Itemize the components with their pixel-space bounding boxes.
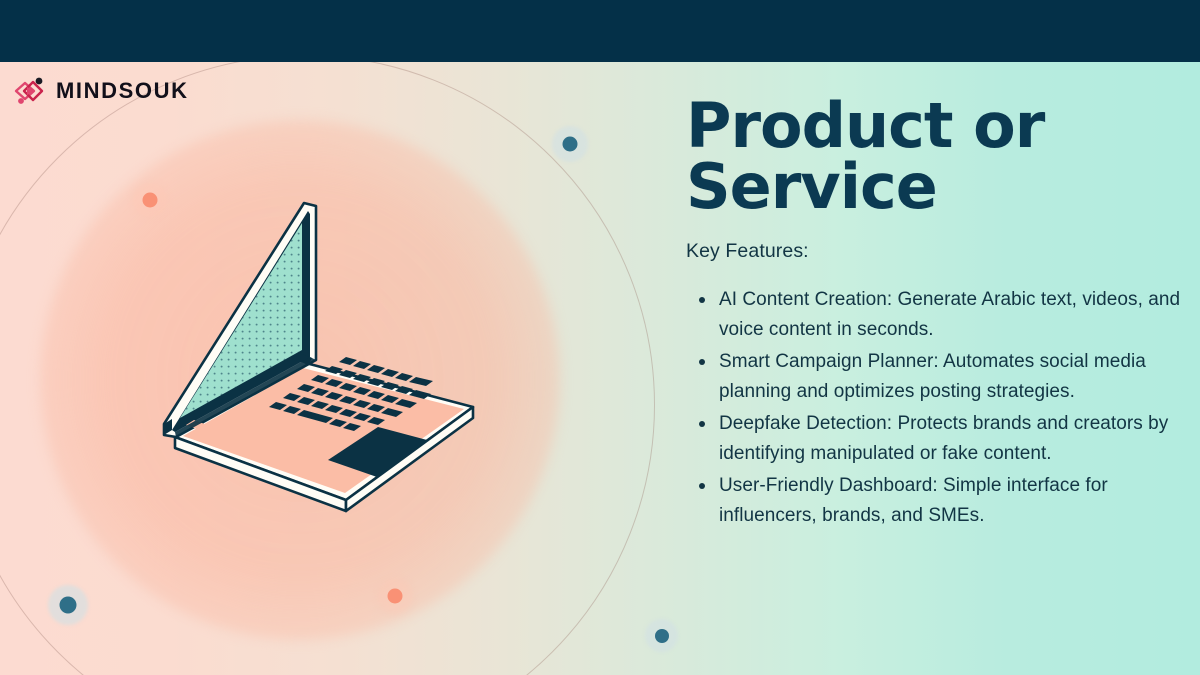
dot-halo — [552, 126, 588, 162]
key-features-list: AI Content Creation: Generate Arabic tex… — [686, 285, 1182, 531]
mindsouk-diamond-arrow-icon — [12, 76, 46, 106]
brand-name: MINDSOUK — [56, 78, 189, 104]
dot-orange-bottom-center — [377, 578, 413, 614]
dot-halo — [48, 585, 88, 625]
dot-teal-bottom-left — [48, 585, 88, 625]
isometric-laptop-illustration — [150, 190, 490, 520]
dot-core — [388, 589, 403, 604]
presentation-slide: MINDSOUK Product or Service Key Features… — [0, 0, 1200, 675]
dot-core — [655, 629, 669, 643]
list-item: User-Friendly Dashboard: Simple interfac… — [686, 471, 1182, 531]
dot-halo — [645, 619, 678, 652]
dot-core — [60, 597, 77, 614]
dot-teal-top-right — [552, 126, 588, 162]
subtitle-key-features: Key Features: — [686, 240, 1182, 263]
list-item: Deepfake Detection: Protects brands and … — [686, 409, 1182, 469]
dot-halo — [377, 578, 413, 614]
dot-teal-bottom-right — [645, 619, 678, 652]
brand-logo: MINDSOUK — [12, 76, 189, 106]
content-column: Product or Service Key Features: AI Cont… — [686, 96, 1182, 533]
list-item: Smart Campaign Planner: Automates social… — [686, 347, 1182, 407]
list-item: AI Content Creation: Generate Arabic tex… — [686, 285, 1182, 345]
page-title: Product or Service — [686, 96, 1182, 218]
top-accent-bar — [0, 0, 1200, 62]
dot-core — [563, 137, 578, 152]
